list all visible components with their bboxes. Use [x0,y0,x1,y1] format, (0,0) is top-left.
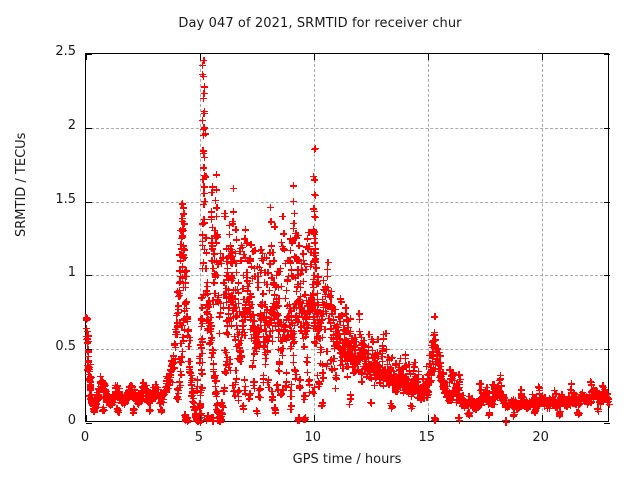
x-tick-label-10: 10 [305,430,322,445]
y-tick-label-0: 0 [68,413,76,428]
x-tick-top-5 [200,54,201,60]
y-tick-label-2: 2 [68,118,76,133]
y-tick-label-1.5: 1.5 [55,192,76,207]
plot-root: Day 047 of 2021, SRMTID for receiver chu… [0,0,640,480]
x-axis-label: GPS time / hours [85,452,609,467]
y-tick-label-0.5: 0.5 [55,339,76,354]
y-tick-right-2 [604,128,610,129]
y-tick-2 [86,128,92,129]
y-tick-0.5 [86,349,92,350]
y-tick-right-0 [604,423,610,424]
y-tick-right-0.5 [604,349,610,350]
x-tick-5 [200,415,201,421]
y-tick-right-2.5 [604,54,610,55]
x-tick-top-20 [542,54,543,60]
y-tick-right-1.5 [604,202,610,203]
scatter-series-srmtid [86,54,608,421]
x-tick-top-15 [428,54,429,60]
plot-frame [85,53,609,422]
y-tick-label-2.5: 2.5 [55,44,76,59]
x-tick-label-0: 0 [81,430,89,445]
y-axis-label: SRMTID / TECUs [14,133,29,237]
x-tick-20 [542,415,543,421]
chart-title: Day 047 of 2021, SRMTID for receiver chu… [0,16,640,31]
x-tick-15 [428,415,429,421]
y-tick-label-1: 1 [68,265,76,280]
x-tick-10 [314,415,315,421]
y-tick-0 [86,423,92,424]
y-tick-1.5 [86,202,92,203]
x-tick-0 [86,415,87,421]
x-tick-top-0 [86,54,87,60]
x-tick-label-5: 5 [195,430,203,445]
x-tick-label-15: 15 [418,430,435,445]
y-tick-1 [86,275,92,276]
y-tick-right-1 [604,275,610,276]
x-tick-top-10 [314,54,315,60]
x-tick-label-20: 20 [532,430,549,445]
